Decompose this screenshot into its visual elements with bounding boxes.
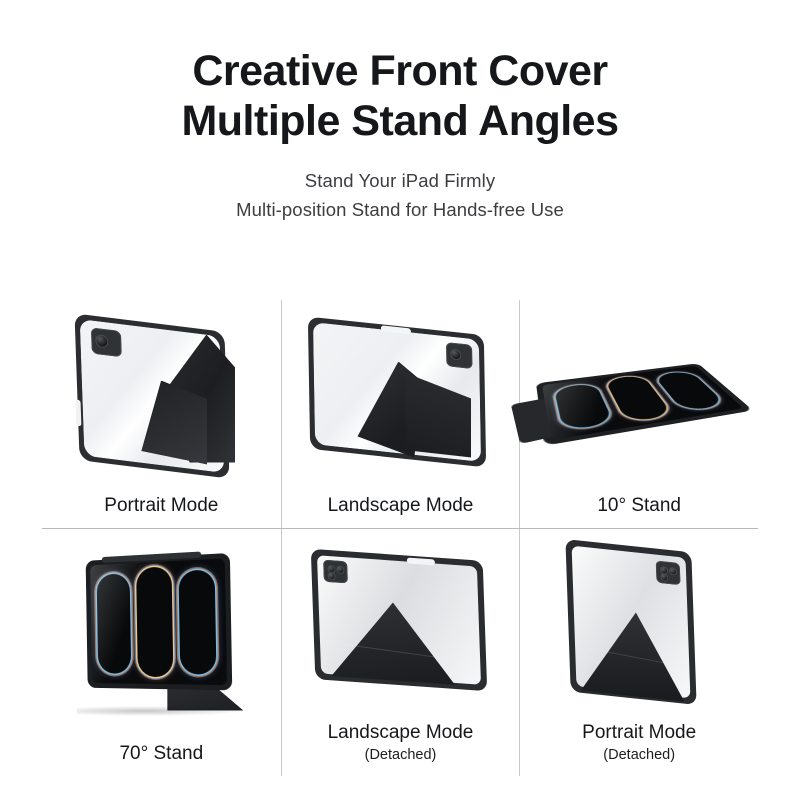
feature-caption-wrap: Landscape Mode (Detached) — [282, 720, 520, 776]
feature-caption: Portrait Mode — [42, 493, 281, 518]
ipad-portrait-detached-cover-illustration — [554, 540, 724, 710]
feature-caption: Landscape Mode — [282, 720, 520, 745]
headline-line-2: Multiple Stand Angles — [0, 96, 800, 146]
feature-cell-portrait-detached: Portrait Mode (Detached) — [519, 528, 758, 776]
subheadline-line-1: Stand Your iPad Firmly — [0, 166, 800, 195]
feature-caption: 10° Stand — [520, 493, 758, 518]
feature-image-stage — [42, 300, 281, 493]
feature-caption-wrap: Portrait Mode — [42, 493, 281, 528]
ipad-upright-70-degree-stand-illustration — [71, 553, 251, 718]
ipad-landscape-origami-stand-illustration — [305, 322, 495, 472]
feature-caption-wrap: 10° Stand — [520, 493, 758, 528]
feature-image-stage — [42, 529, 281, 741]
feature-image-stage — [520, 300, 758, 493]
product-feature-page: Creative Front Cover Multiple Stand Angl… — [0, 0, 800, 800]
ipad-landscape-detached-cover-illustration — [305, 547, 495, 702]
feature-image-stage — [282, 529, 520, 720]
feature-caption-wrap: Landscape Mode — [282, 493, 520, 528]
feature-image-stage — [520, 529, 758, 720]
feature-caption-wrap: Portrait Mode (Detached) — [520, 720, 758, 776]
feature-cell-landscape-detached: Landscape Mode (Detached) — [281, 528, 520, 776]
headline-line-1: Creative Front Cover — [0, 46, 800, 96]
feature-caption: Landscape Mode — [282, 493, 520, 518]
iridescent-wallpaper — [91, 558, 228, 685]
feature-caption-sub: (Detached) — [282, 745, 520, 766]
feature-cell-landscape-mode: Landscape Mode — [281, 300, 520, 528]
feature-caption: 70° Stand — [42, 741, 281, 766]
feature-caption-wrap: 70° Stand — [42, 741, 281, 776]
feature-image-stage — [282, 300, 520, 493]
feature-cell-10-degree-stand: 10° Stand — [519, 300, 758, 528]
feature-caption-sub: (Detached) — [520, 745, 758, 766]
feature-cell-70-degree-stand: 70° Stand — [42, 528, 281, 776]
header: Creative Front Cover Multiple Stand Angl… — [0, 46, 800, 224]
ipad-flat-10-degree-stand-illustration — [534, 327, 744, 467]
subheadline-line-2: Multi-position Stand for Hands-free Use — [0, 195, 800, 224]
ipad-portrait-origami-stand-illustration — [71, 317, 251, 477]
feature-caption: Portrait Mode — [520, 720, 758, 745]
feature-grid: Portrait Mode Landscape Mode — [42, 300, 758, 776]
subheadline: Stand Your iPad Firmly Multi-position St… — [0, 166, 800, 224]
feature-cell-portrait-mode: Portrait Mode — [42, 300, 281, 528]
